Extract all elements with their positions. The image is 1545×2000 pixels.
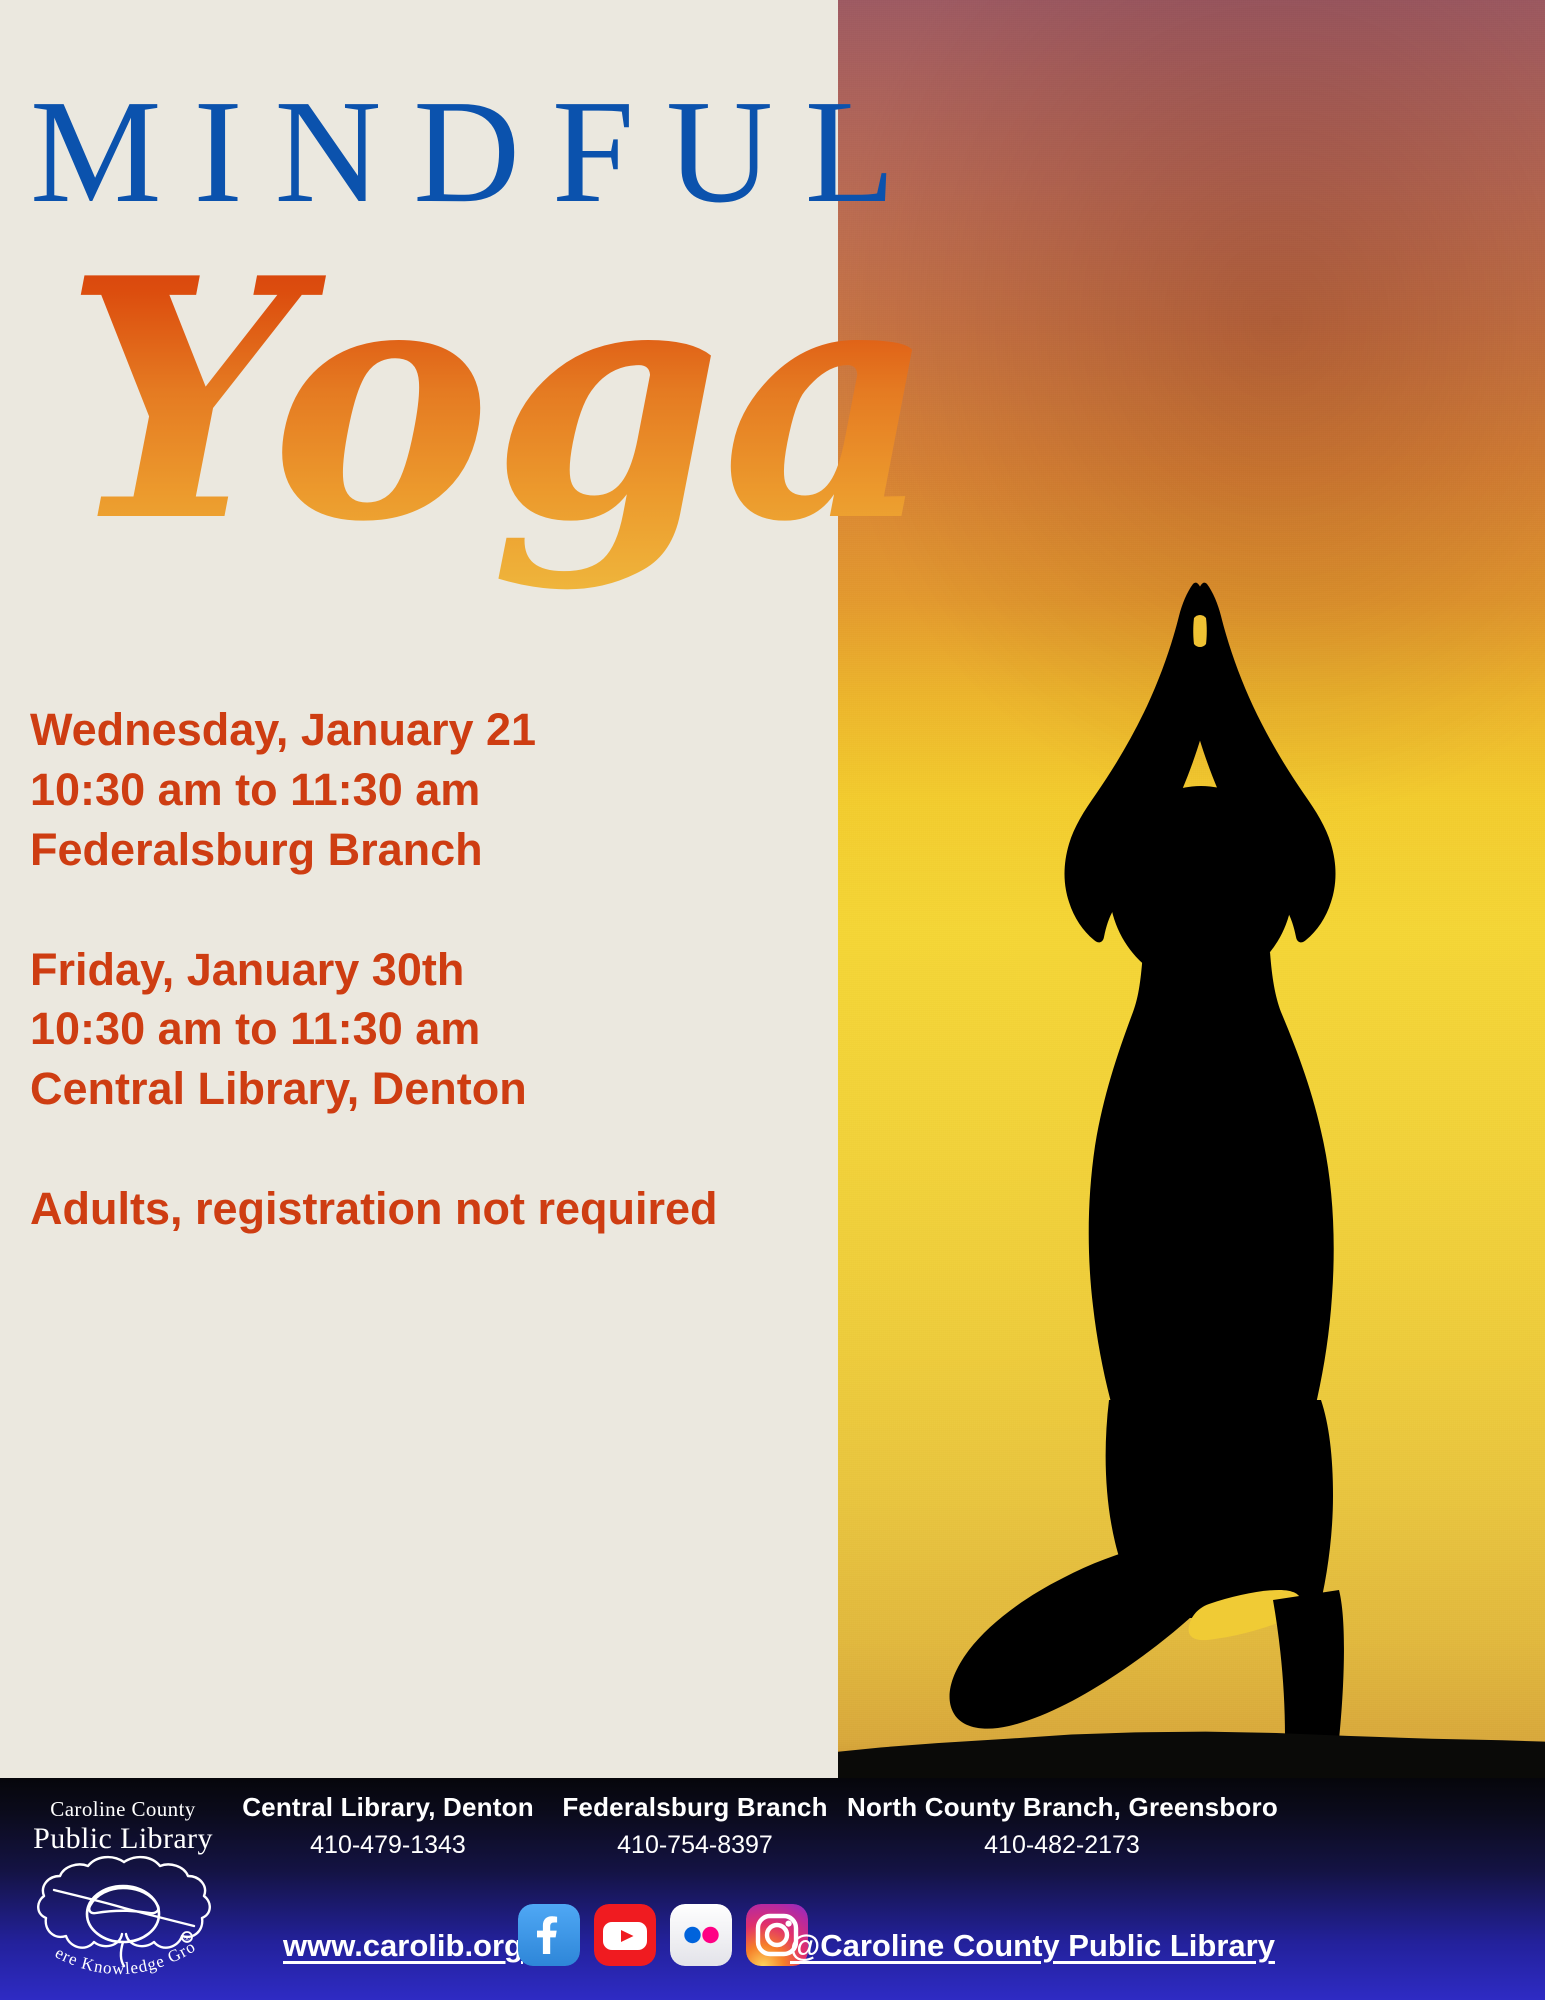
- website-link[interactable]: www.carolib.org: [283, 1928, 523, 1964]
- event-1-time: 10:30 am to 11:30 am: [30, 760, 840, 820]
- branch-2-name: Federalsburg Branch: [559, 1792, 831, 1823]
- branch-federalsburg: Federalsburg Branch 410-754-8397: [551, 1792, 839, 1860]
- event-2-date: Friday, January 30th: [30, 940, 840, 1000]
- sunset-photo-panel: [838, 0, 1545, 1782]
- branch-central-library: Central Library, Denton 410-479-1343: [225, 1792, 551, 1860]
- event-1-date: Wednesday, January 21: [30, 700, 840, 760]
- poster-root: MINDFUL Yoga Wednesday, January 21 10:30…: [0, 0, 1545, 2000]
- logo-line-2: Public Library: [33, 1822, 213, 1855]
- page-title: MINDFUL: [30, 78, 1130, 226]
- facebook-icon[interactable]: [518, 1904, 580, 1966]
- event-block-1: Wednesday, January 21 10:30 am to 11:30 …: [30, 700, 840, 880]
- block-spacer-1: [30, 880, 840, 940]
- social-icons-row: [518, 1904, 808, 1966]
- yoga-tree-pose-silhouette-icon: [841, 500, 1541, 1782]
- branch-3-name: North County Branch, Greensboro: [847, 1792, 1277, 1823]
- social-handle-link[interactable]: @Caroline County Public Library: [790, 1928, 1275, 1964]
- audience-note: Adults, registration not required: [30, 1179, 840, 1239]
- youtube-icon[interactable]: [594, 1904, 656, 1966]
- event-2-time: 10:30 am to 11:30 am: [30, 999, 840, 1059]
- script-wordmark: Yoga: [58, 176, 878, 636]
- flickr-icon[interactable]: [670, 1904, 732, 1966]
- footer-bar: Caroline County Public Library ®: [0, 1778, 1545, 2000]
- block-spacer-2: [30, 1119, 840, 1179]
- branch-3-phone[interactable]: 410-482-2173: [847, 1831, 1277, 1860]
- branch-1-phone[interactable]: 410-479-1343: [233, 1831, 543, 1860]
- audience-note-text: Adults, registration not required: [30, 1179, 840, 1239]
- event-2-location: Central Library, Denton: [30, 1059, 840, 1119]
- logo-line-1: Caroline County: [50, 1797, 196, 1821]
- event-details: Wednesday, January 21 10:30 am to 11:30 …: [30, 700, 840, 1239]
- event-block-2: Friday, January 30th 10:30 am to 11:30 a…: [30, 940, 840, 1120]
- branch-2-phone[interactable]: 410-754-8397: [559, 1831, 831, 1860]
- footer-bottom-row: www.carolib.org: [0, 1896, 1545, 2000]
- branch-north-county: North County Branch, Greensboro 410-482-…: [839, 1792, 1285, 1860]
- branch-contacts: Central Library, Denton 410-479-1343 Fed…: [225, 1792, 1535, 1860]
- branch-1-name: Central Library, Denton: [233, 1792, 543, 1823]
- script-word-yoga: Yoga: [64, 206, 936, 594]
- event-1-location: Federalsburg Branch: [30, 820, 840, 880]
